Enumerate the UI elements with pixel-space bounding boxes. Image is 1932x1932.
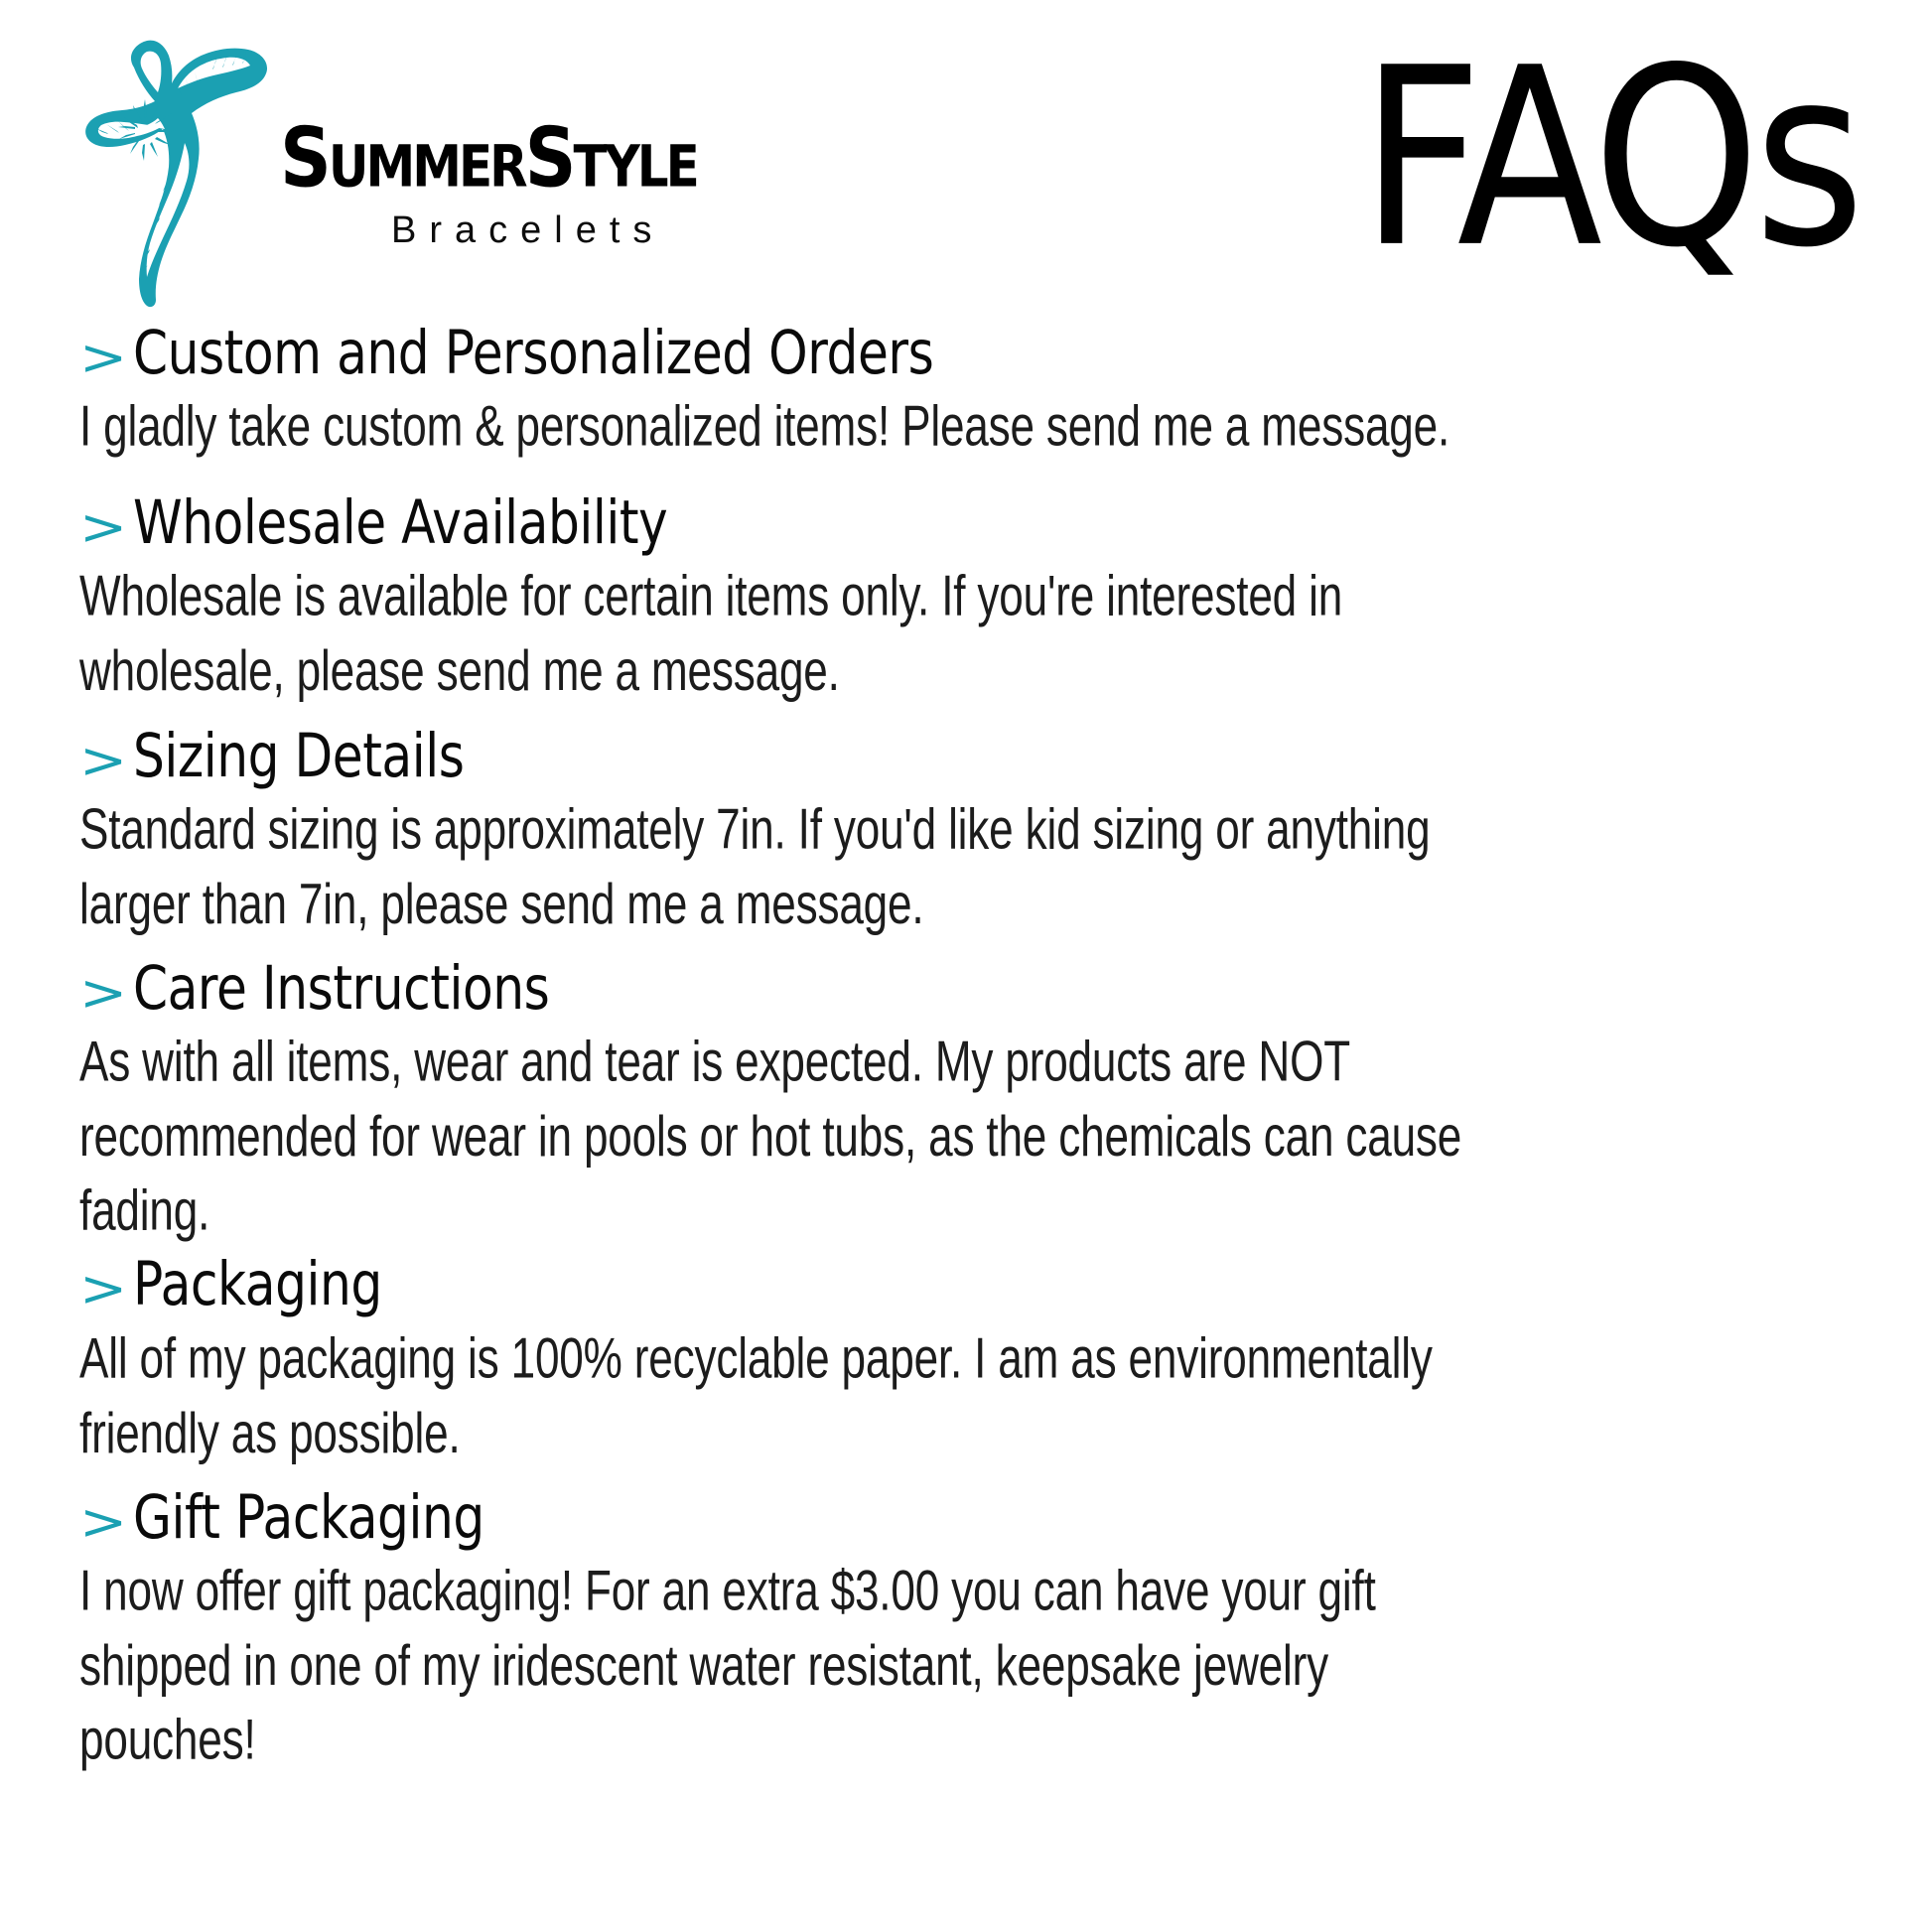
brand-logo: SummerStyle Bracelets — [77, 22, 697, 310]
faq-heading: > Sizing Details — [79, 731, 1853, 787]
faq-heading: > Wholesale Availability — [79, 497, 1853, 554]
faq-body-text: Wholesale is available for certain items… — [79, 560, 1509, 709]
faq-heading: > Gift Packaging — [79, 1492, 1853, 1549]
starfish-icon — [77, 22, 276, 310]
faq-heading-label: Gift Packaging — [133, 1485, 484, 1549]
faq-body-text: I gladly take custom & personalized item… — [79, 390, 1509, 465]
faq-page: { "brand": { "logo_icon": "starfish-icon… — [0, 0, 1932, 1932]
faq-body-text: All of my packaging is 100% recyclable p… — [79, 1322, 1438, 1471]
faq-item-care-instructions: > Care Instructions As with all items, w… — [79, 963, 1853, 1215]
chevron-right-icon: > — [79, 736, 127, 785]
chevron-right-icon: > — [79, 333, 127, 382]
faq-item-sizing-details: > Sizing Details Standard sizing is appr… — [79, 731, 1853, 920]
faq-item-packaging: > Packaging All of my packaging is 100% … — [79, 1259, 1853, 1449]
faq-heading-label: Sizing Details — [133, 724, 464, 787]
chevron-right-icon: > — [79, 1497, 127, 1547]
page-header: SummerStyle Bracelets FAQs — [0, 0, 1932, 328]
faq-list: > Custom and Personalized Orders I gladl… — [0, 328, 1932, 1788]
faq-heading-label: Custom and Personalized Orders — [133, 321, 933, 384]
faq-body-text: Standard sizing is approximately 7in. If… — [79, 793, 1509, 942]
brand-subtitle: Bracelets — [391, 209, 697, 252]
faq-body-text: I now offer gift packaging! For an extra… — [79, 1555, 1509, 1778]
chevron-right-icon: > — [79, 968, 127, 1018]
faq-heading-label: Care Instructions — [133, 956, 549, 1020]
faq-heading: > Care Instructions — [79, 963, 1853, 1020]
chevron-right-icon: > — [79, 1264, 127, 1313]
chevron-right-icon: > — [79, 502, 127, 552]
faq-body-text: As with all items, wear and tear is expe… — [79, 1026, 1509, 1249]
brand-wordmark: SummerStyle Bracelets — [280, 22, 697, 252]
faq-heading-label: Wholesale Availability — [133, 490, 667, 554]
brand-name: SummerStyle — [280, 121, 697, 196]
page-title: FAQs — [1360, 36, 1859, 282]
faq-heading: > Packaging — [79, 1259, 1853, 1315]
faq-item-custom-and-personalized-orders: > Custom and Personalized Orders I gladl… — [79, 328, 1853, 454]
faq-heading: > Custom and Personalized Orders — [79, 328, 1853, 384]
faq-item-gift-packaging: > Gift Packaging I now offer gift packag… — [79, 1492, 1853, 1744]
faq-item-wholesale-availability: > Wholesale Availability Wholesale is av… — [79, 497, 1853, 687]
faq-heading-label: Packaging — [133, 1253, 382, 1316]
